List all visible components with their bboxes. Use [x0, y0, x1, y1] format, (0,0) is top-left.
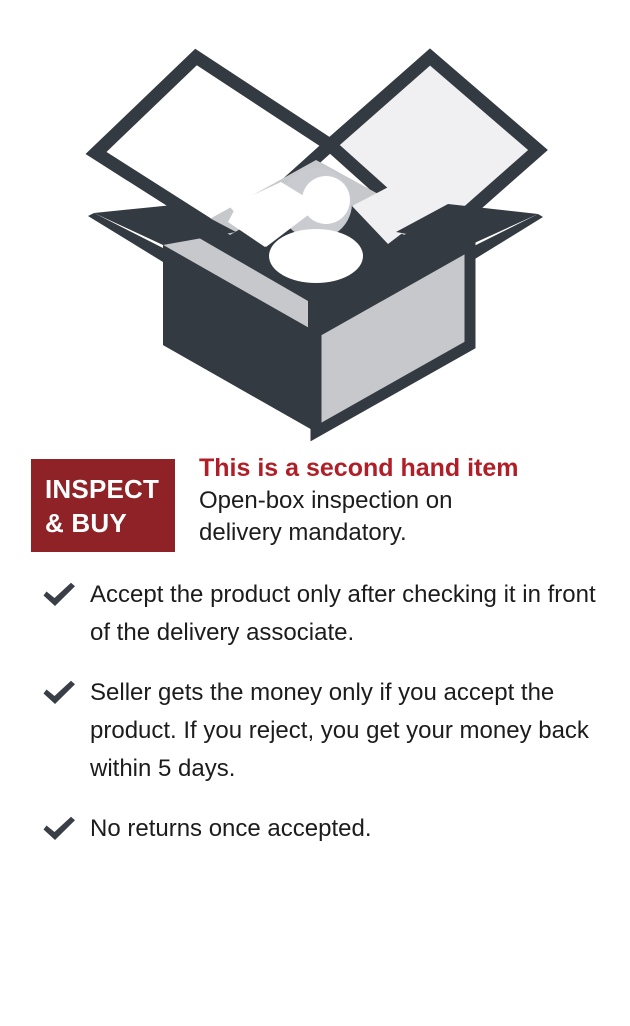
list-item: Accept the product only after checking i…: [0, 576, 630, 652]
badge-line-1: INSPECT: [45, 472, 159, 506]
inspect-and-buy-panel: INSPECT & BUY This is a second hand item…: [0, 0, 630, 1026]
headline-second-hand-item: This is a second hand item: [199, 452, 619, 485]
list-item-text: Seller gets the money only if you accept…: [90, 674, 600, 788]
open-box-illustration: [0, 0, 630, 446]
list-item: No returns once accepted.: [0, 810, 630, 848]
subheadline-line-1: Open-box inspection on: [199, 485, 619, 517]
subheadline-line-2: delivery mandatory.: [199, 517, 619, 549]
list-item: Seller gets the money only if you accept…: [0, 674, 630, 788]
box-item-ellipse: [269, 229, 363, 283]
check-icon: [42, 680, 76, 706]
inspect-and-buy-badge: INSPECT & BUY: [31, 459, 175, 552]
check-icon: [42, 582, 76, 608]
subheadline-open-box-inspection: Open-box inspection on delivery mandator…: [199, 485, 619, 549]
heading-row: INSPECT & BUY This is a second hand item…: [0, 452, 630, 560]
policy-bullet-list: Accept the product only after checking i…: [0, 576, 630, 870]
list-item-text: Accept the product only after checking i…: [90, 576, 600, 652]
check-icon: [42, 816, 76, 842]
badge-line-2: & BUY: [45, 506, 127, 540]
heading-text-block: This is a second hand item Open-box insp…: [199, 452, 619, 549]
list-item-text: No returns once accepted.: [90, 810, 600, 848]
